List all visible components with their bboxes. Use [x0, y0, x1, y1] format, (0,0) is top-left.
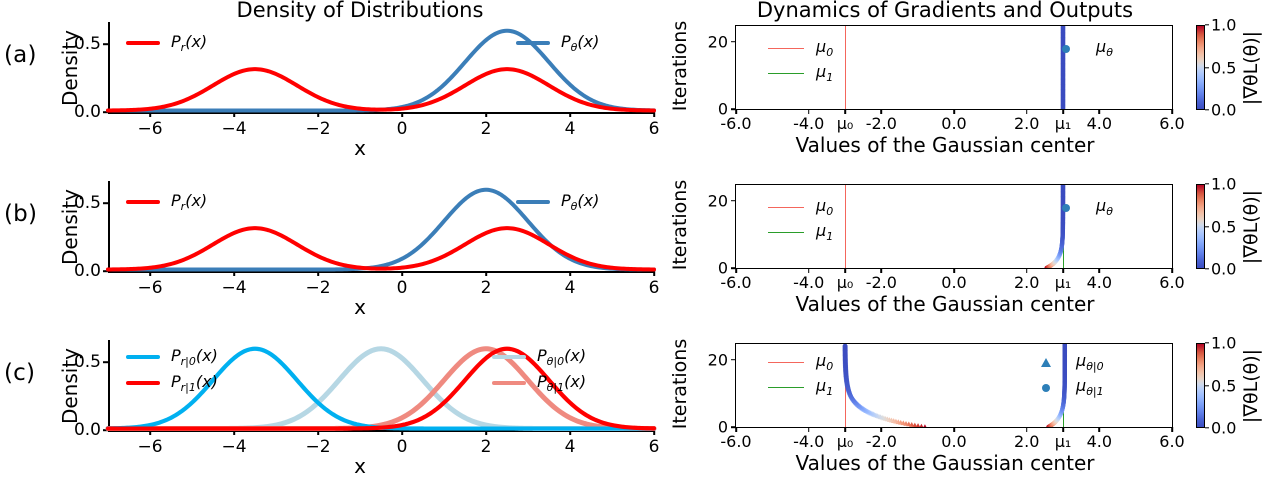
dyn-x-tick-mu0: μ₀ [837, 114, 854, 133]
legend-item-mutheta: μθ [1048, 36, 1113, 61]
colorbar-tick-0: 0.0 [1211, 101, 1236, 120]
colorbar-tick-2: 1.0 [1211, 175, 1236, 194]
dyn-x-tick-5: 2.0 [1014, 114, 1039, 133]
legend-label-mu0: μ0 [816, 196, 833, 218]
legend-swatch-mu1 [768, 387, 804, 389]
x-tick-4: 2 [481, 437, 492, 457]
density-legend-left-b: Pr(x) [126, 189, 207, 215]
dyn-x-tick-8: 6.0 [1159, 432, 1184, 451]
legend-swatch-mu1 [768, 73, 804, 75]
x-tick-2: −2 [305, 119, 330, 139]
legend-item-pr: Pr(x) [126, 189, 207, 215]
legend-label-pr0: Pr|0(x) [171, 346, 218, 368]
x-tick-4: 2 [481, 278, 492, 298]
legend-swatch-ptheta [516, 41, 550, 45]
legend-label-ptheta1: Pθ|1(x) [537, 372, 586, 394]
row-label-a: (a) [4, 44, 37, 67]
legend-label-mutheta1: μθ|1 [1076, 376, 1104, 398]
x-tick-0: −6 [137, 119, 162, 139]
legend-swatch-mutheta1 [1028, 383, 1064, 393]
colorbar-label: |∇θL(θ)| [1240, 343, 1262, 428]
row-label-c: (c) [4, 362, 35, 385]
y-tick-1: 0.5 [74, 34, 101, 54]
x-tick-6: 6 [649, 437, 660, 457]
dynamics-ylabel-b: Iterations [668, 179, 692, 271]
dyn-x-tick-mu0: μ₀ [837, 273, 854, 292]
density-legend-right-c: Pθ|0(x) Pθ|1(x) [492, 344, 586, 396]
triangle-marker-icon [1041, 358, 1051, 367]
colorbar-b: 0.0 0.5 1.0 |∇θL(θ)| [1196, 184, 1268, 269]
legend-swatch-mu1 [768, 232, 804, 234]
legend-item-ptheta: Pθ(x) [516, 30, 599, 56]
dynamics-legend-right-c: μθ|0 μθ|1 [1028, 350, 1104, 400]
colorbar-tick-2: 1.0 [1211, 16, 1236, 35]
colorbar-tick-0: 0.0 [1211, 260, 1236, 279]
colorbar-tick-1: 0.5 [1211, 217, 1236, 236]
dynamics-panel-a: Dynamics of Gradients and Outputs Iterat… [660, 0, 1268, 159]
legend-swatch-pr [126, 200, 160, 204]
legend-label-pr: Pr(x) [171, 191, 207, 213]
legend-swatch-pr [126, 41, 160, 45]
legend-swatch-mu0 [768, 362, 804, 364]
legend-label-pr: Pr(x) [171, 32, 207, 54]
dyn-x-tick-mu1: μ₁ [1055, 273, 1072, 292]
figure-row-a: (a) Density of Distributions Density x 0… [0, 0, 1268, 159]
legend-swatch-mutheta0 [1028, 358, 1064, 368]
x-tick-5: 4 [565, 119, 576, 139]
colorbar-gradient [1196, 184, 1205, 269]
x-tick-6: 6 [649, 278, 660, 298]
legend-item-mutheta1: μθ|1 [1028, 375, 1104, 400]
dyn-x-tick-4: 0.0 [941, 114, 966, 133]
figure-row-b: (b) Density x 0.0 0.5 −6 −4 −2 0 2 4 6 [0, 159, 1268, 318]
density-title-a: Density of Distributions [60, 0, 660, 22]
legend-item-mu0: μ0 [768, 350, 833, 375]
x-tick-0: −6 [137, 278, 162, 298]
legend-label-mu0: μ0 [816, 37, 833, 59]
x-tick-5: 4 [565, 437, 576, 457]
density-legend-left-c: Pr|0(x) Pr|1(x) [126, 344, 218, 396]
dyn-x-tick-5: 2.0 [1014, 273, 1039, 292]
colorbar-tick-2: 1.0 [1211, 334, 1236, 353]
x-tick-3: 0 [397, 278, 408, 298]
legend-label-mutheta0: μθ|0 [1076, 351, 1104, 373]
legend-item-pr1: Pr|1(x) [126, 370, 218, 396]
y-tick-0: 0.0 [74, 261, 101, 281]
dyn-x-tick-mu0: μ₀ [837, 432, 854, 451]
legend-item-pr0: Pr|0(x) [126, 344, 218, 370]
dyn-x-tick-1: -4.0 [793, 114, 824, 133]
dyn-x-tick-8: 6.0 [1159, 273, 1184, 292]
legend-item-mutheta0: μθ|0 [1028, 350, 1104, 375]
dyn-x-tick-5: 2.0 [1014, 432, 1039, 451]
row-label-b: (b) [4, 203, 37, 226]
legend-swatch-mu0 [768, 48, 804, 50]
density-xlabel-a: x [60, 136, 660, 160]
dynamics-ylabel-a: Iterations [668, 20, 692, 112]
dyn-x-tick-3: -2.0 [866, 273, 897, 292]
colorbar-label: |∇θL(θ)| [1240, 25, 1262, 110]
dyn-x-tick-0: -6.0 [720, 432, 751, 451]
y-tick-0: 0.0 [74, 102, 101, 122]
x-tick-0: −6 [137, 437, 162, 457]
legend-item-mu1: μ1 [768, 61, 833, 86]
legend-label-mu0: μ0 [816, 351, 833, 373]
circle-marker-icon [1062, 204, 1070, 212]
dynamics-legend-left-b: μ0 μ1 [768, 195, 833, 245]
dynamics-legend-left-a: μ0 μ1 [768, 36, 833, 86]
dynamics-xlabel-a: Values of the Gaussian center [690, 133, 1200, 157]
legend-label-mutheta: μθ [1096, 37, 1113, 59]
legend-swatch-ptheta [516, 200, 550, 204]
legend-label-mu1: μ1 [816, 221, 833, 243]
dynamics-ylabel-c: Iterations [668, 338, 692, 430]
dynamics-legend-left-c: μ0 μ1 [768, 350, 833, 400]
dynamics-xlabel-b: Values of the Gaussian center [690, 292, 1200, 316]
dyn-x-tick-0: -6.0 [720, 273, 751, 292]
density-legend-left-a: Pr(x) [126, 30, 207, 56]
legend-item-mu0: μ0 [768, 36, 833, 61]
x-tick-3: 0 [397, 119, 408, 139]
legend-item-mutheta: μθ [1048, 195, 1113, 220]
legend-swatch-mu0 [768, 207, 804, 209]
legend-label-mu1: μ1 [816, 376, 833, 398]
x-tick-2: −2 [305, 437, 330, 457]
density-legend-right-a: Pθ(x) [516, 30, 599, 56]
density-panel-b: Density x 0.0 0.5 −6 −4 −2 0 2 4 6 [60, 159, 660, 318]
density-xlabel-c: x [60, 454, 660, 478]
dyn-x-tick-8: 6.0 [1159, 114, 1184, 133]
dynamics-title-a: Dynamics of Gradients and Outputs [690, 0, 1200, 22]
legend-item-pr: Pr(x) [126, 30, 207, 56]
x-tick-1: −4 [221, 119, 246, 139]
legend-label-mutheta: μθ [1096, 196, 1113, 218]
legend-label-ptheta: Pθ(x) [561, 191, 599, 213]
dyn-x-tick-0: -6.0 [720, 114, 751, 133]
figure-root: (a) Density of Distributions Density x 0… [0, 0, 1268, 477]
dyn-x-tick-mu1: μ₁ [1055, 432, 1072, 451]
dynamics-legend-right-b: μθ [1048, 195, 1113, 220]
circle-marker-icon [1062, 45, 1070, 53]
colorbar-label: |∇θL(θ)| [1240, 184, 1262, 269]
dyn-y-tick-1: 20 [708, 32, 728, 51]
legend-item-mu0: μ0 [768, 195, 833, 220]
dyn-x-tick-7: 4.0 [1087, 432, 1112, 451]
legend-swatch-pr1 [126, 381, 160, 385]
colorbar-tick-0: 0.0 [1211, 419, 1236, 438]
x-tick-1: −4 [221, 278, 246, 298]
legend-item-ptheta0: Pθ|0(x) [492, 344, 586, 370]
dyn-x-tick-3: -2.0 [866, 432, 897, 451]
legend-label-ptheta: Pθ(x) [561, 32, 599, 54]
legend-item-ptheta1: Pθ|1(x) [492, 370, 586, 396]
dyn-x-tick-3: -2.0 [866, 114, 897, 133]
colorbar-a: 0.0 0.5 1.0 |∇θL(θ)| [1196, 25, 1268, 110]
legend-label-ptheta0: Pθ|0(x) [537, 346, 586, 368]
legend-item-mu1: μ1 [768, 375, 833, 400]
x-tick-2: −2 [305, 278, 330, 298]
legend-label-pr1: Pr|1(x) [171, 372, 218, 394]
dyn-x-tick-4: 0.0 [941, 432, 966, 451]
density-panel-c: Density x 0.0 0.5 −6 −4 −2 0 2 4 6 [60, 318, 660, 477]
dyn-y-tick-1: 20 [708, 191, 728, 210]
y-tick-0: 0.0 [74, 420, 101, 440]
x-tick-5: 4 [565, 278, 576, 298]
dynamics-panel-b: Iterations Values of the Gaussian center… [660, 159, 1268, 318]
colorbar-c: 0.0 0.5 1.0 |∇θL(θ)| [1196, 343, 1268, 428]
colorbar-gradient [1196, 25, 1205, 110]
colorbar-tick-1: 0.5 [1211, 376, 1236, 395]
circle-marker-icon [1042, 384, 1050, 392]
x-tick-6: 6 [649, 119, 660, 139]
y-tick-1: 0.5 [74, 352, 101, 372]
y-tick-1: 0.5 [74, 193, 101, 213]
dynamics-legend-right-a: μθ [1048, 36, 1113, 61]
legend-swatch-pr0 [126, 355, 160, 359]
legend-label-mu1: μ1 [816, 62, 833, 84]
x-tick-3: 0 [397, 437, 408, 457]
dyn-x-tick-4: 0.0 [941, 273, 966, 292]
colorbar-gradient [1196, 343, 1205, 428]
legend-item-mu1: μ1 [768, 220, 833, 245]
dyn-x-tick-mu1: μ₁ [1055, 114, 1072, 133]
density-xlabel-b: x [60, 295, 660, 319]
legend-swatch-mutheta [1048, 203, 1084, 213]
legend-swatch-ptheta1 [492, 381, 526, 385]
dyn-x-tick-1: -4.0 [793, 432, 824, 451]
density-legend-right-b: Pθ(x) [516, 189, 599, 215]
colorbar-tick-1: 0.5 [1211, 58, 1236, 77]
figure-row-c: (c) Density x 0.0 0.5 −6 −4 −2 0 2 4 6 [0, 318, 1268, 477]
x-tick-4: 2 [481, 119, 492, 139]
dyn-x-tick-1: -4.0 [793, 273, 824, 292]
legend-item-ptheta: Pθ(x) [516, 189, 599, 215]
dynamics-panel-c: Iterations Values of the Gaussian center… [660, 318, 1268, 477]
dynamics-xlabel-c: Values of the Gaussian center [690, 451, 1200, 475]
density-panel-a: Density of Distributions Density x 0.0 0… [60, 0, 660, 159]
dyn-y-tick-1: 20 [708, 350, 728, 369]
legend-swatch-ptheta0 [492, 355, 526, 359]
x-tick-1: −4 [221, 437, 246, 457]
dyn-x-tick-7: 4.0 [1087, 273, 1112, 292]
dyn-x-tick-7: 4.0 [1087, 114, 1112, 133]
legend-swatch-mutheta [1048, 44, 1084, 54]
